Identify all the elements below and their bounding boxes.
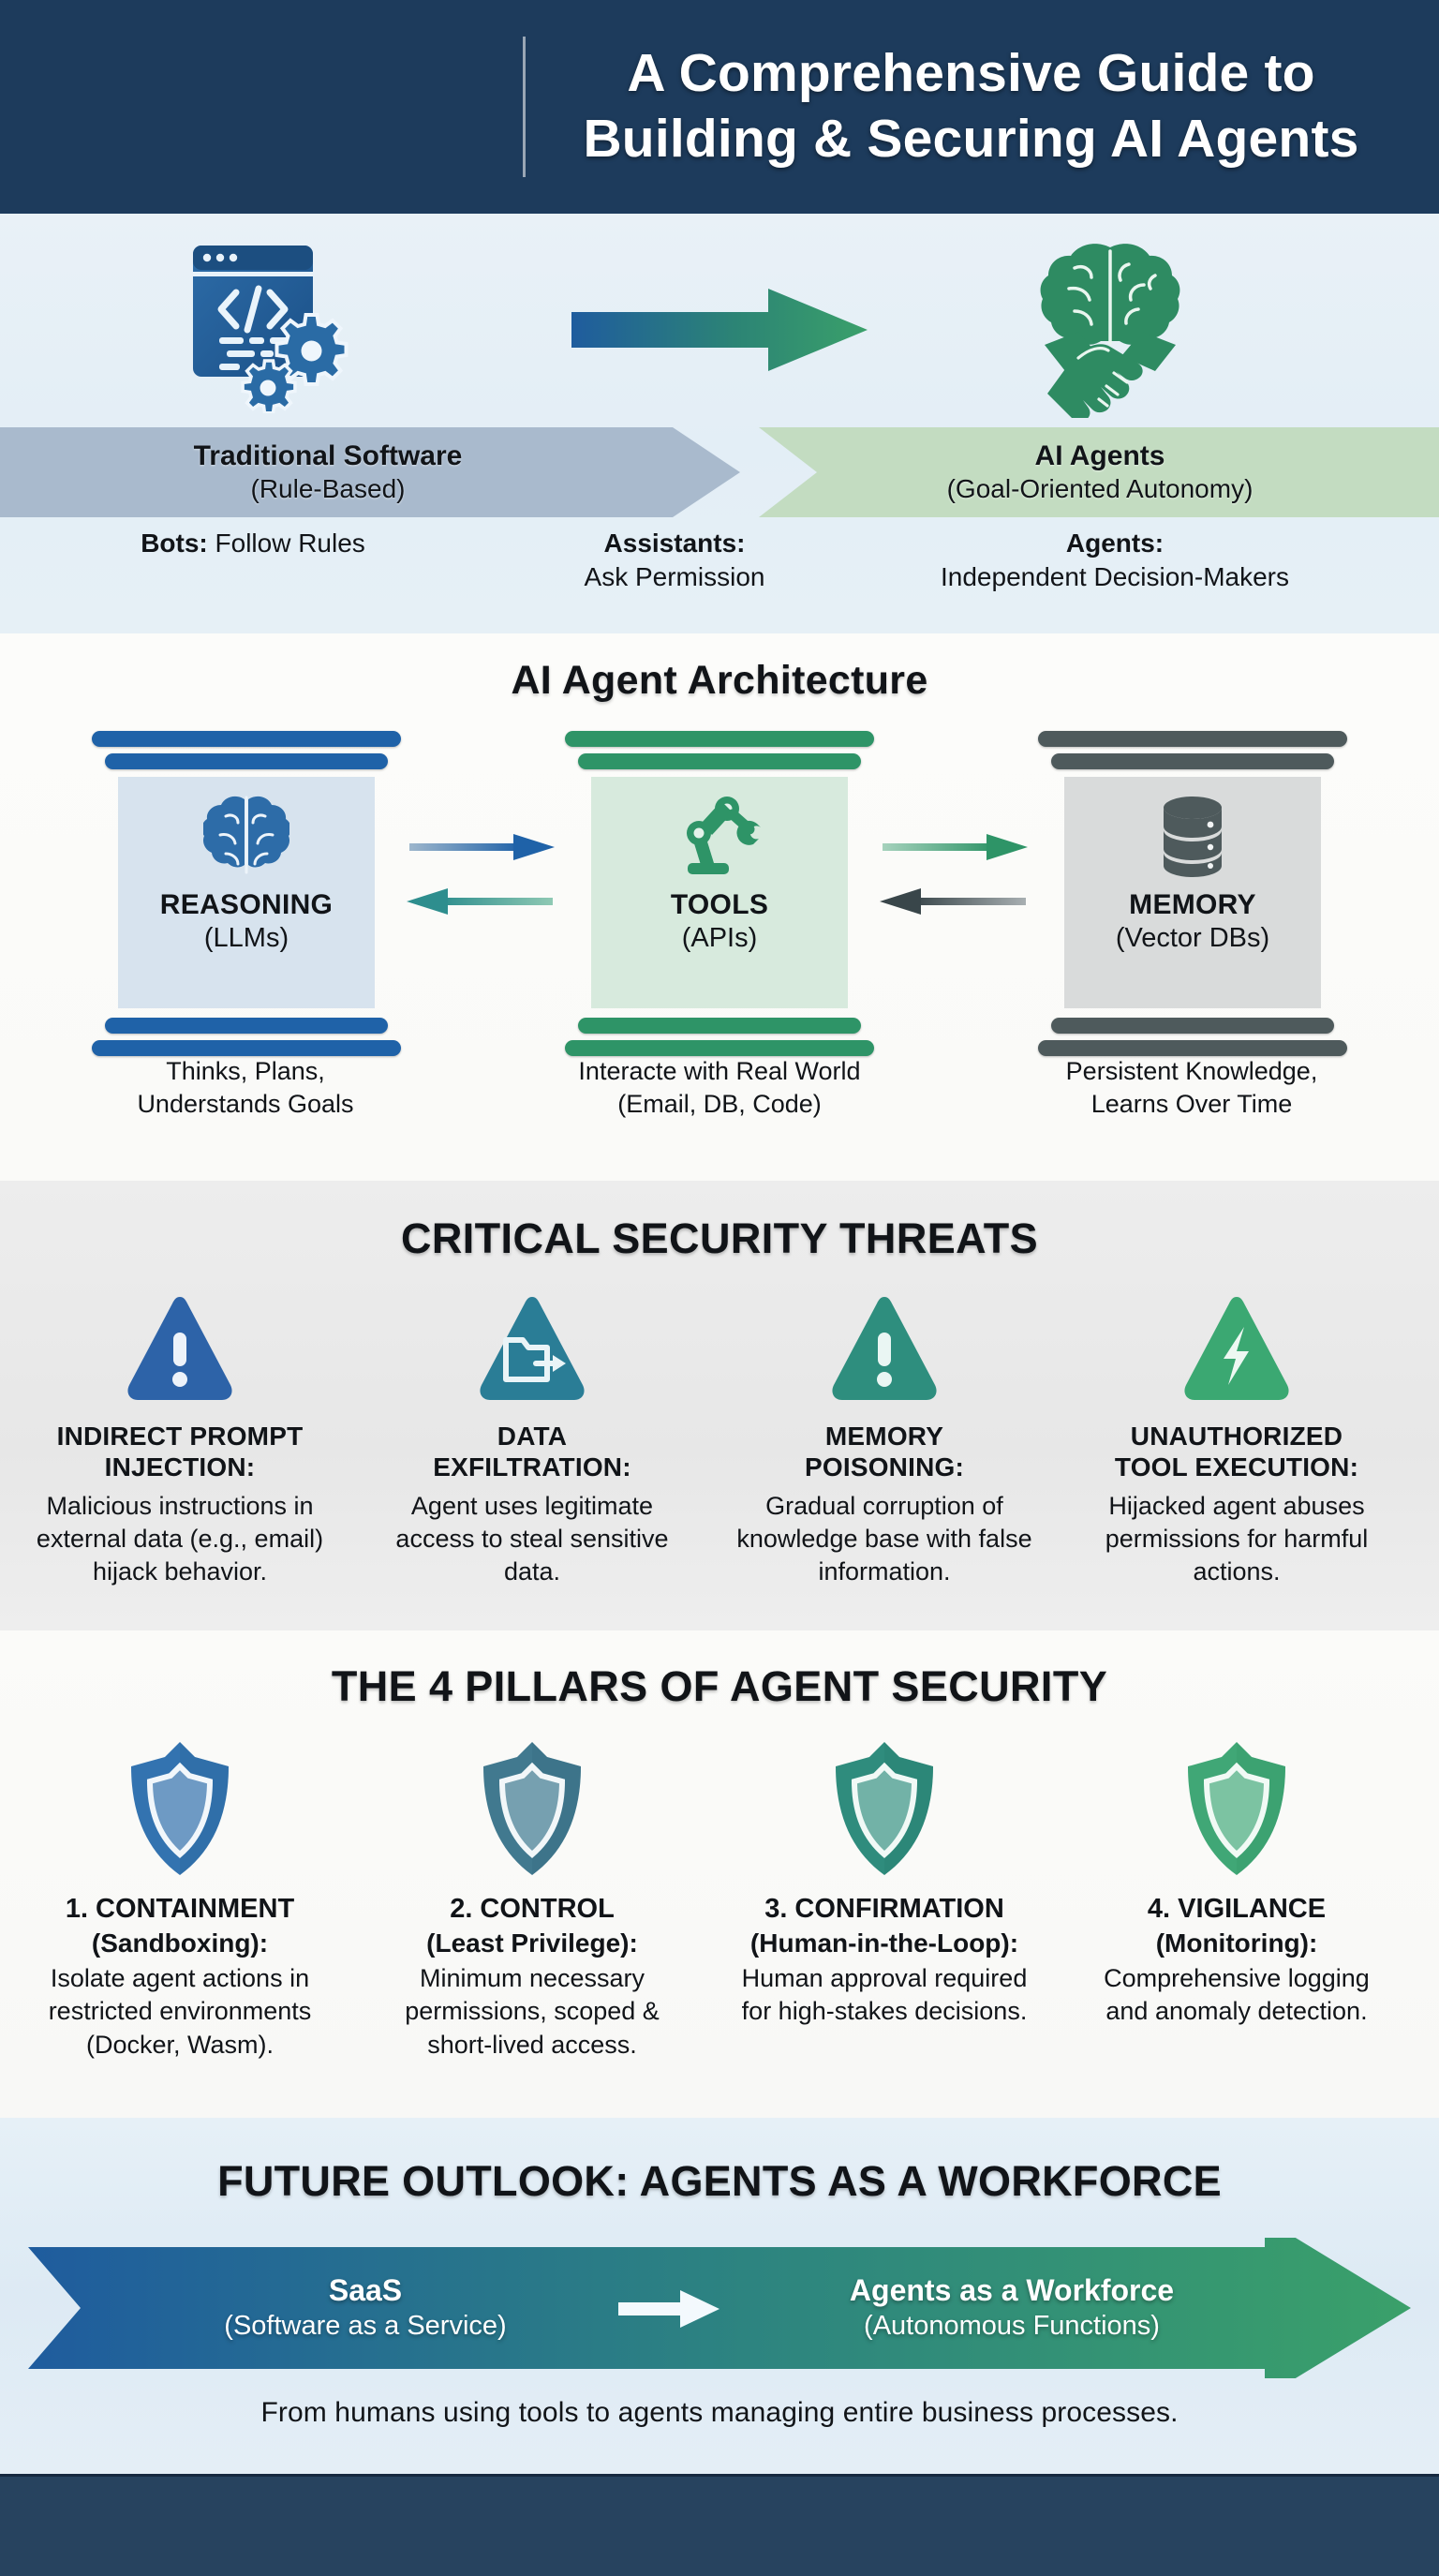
warning-triangle-folder-export-icon (363, 1288, 701, 1404)
threats-title: CRITICAL SECURITY THREATS (0, 1214, 1439, 1263)
database-icon (1150, 792, 1235, 882)
future-left-subtitle: (Software as a Service) (224, 2310, 506, 2344)
future-left-title: SaaS (224, 2272, 506, 2310)
future-left-block: SaaS (Software as a Service) (141, 2238, 590, 2378)
security-desc-confirmation: Human approval required for high-stakes … (716, 1962, 1053, 2028)
evolution-arrow-icon (570, 287, 869, 378)
footnote-assistants-text: Ask Permission (525, 560, 824, 594)
pillar-caption-tools: Interacte with Real World (Email, DB, Co… (513, 1055, 926, 1121)
code-window-gears-icon (178, 240, 356, 418)
threat-card-data-exfiltration: DATA EXFILTRATION: Agent uses legitimate… (363, 1288, 701, 1588)
threat-desc-unauthorized-tool-execution: Hijacked agent abuses permissions for ha… (1068, 1490, 1405, 1588)
architecture-section: AI Agent Architecture REASONING (LLMs) (0, 633, 1439, 1181)
small-right-arrow-icon (618, 2288, 721, 2330)
evolution-footnotes: Bots: Follow Rules Assistants: Ask Permi… (0, 527, 1439, 630)
threat-card-prompt-injection: INDIRECT PROMPT INJECTION: Malicious ins… (11, 1288, 349, 1588)
warning-triangle-exclamation-icon (716, 1288, 1053, 1404)
head-line-2: POISONING: (716, 1452, 1053, 1482)
pillar-sub-memory: (Vector DBs) (1116, 923, 1269, 954)
threat-card-unauthorized-tool-execution: UNAUTHORIZED TOOL EXECUTION: Hijacked ag… (1068, 1288, 1405, 1588)
pillar-cap-bottom-inner (105, 1018, 388, 1034)
pillar-body-tools: TOOLS (APIs) (591, 777, 848, 1008)
head-line-1: MEMORY (716, 1421, 1053, 1452)
threat-desc-memory-poisoning: Gradual corruption of knowledge base wit… (716, 1490, 1053, 1588)
pillar-cap-top-inner (1051, 753, 1334, 769)
security-head-confirmation: 3. CONFIRMATION (716, 1893, 1053, 1926)
pillar-tools: TOOLS (APIs) (565, 731, 874, 1056)
pillar-cap-bottom-inner (578, 1018, 861, 1034)
architecture-title: AI Agent Architecture (0, 658, 1439, 704)
footnote-agents-label: Agents: (843, 527, 1387, 560)
brain-handshake-icon (1016, 231, 1204, 423)
pillar-cap-top-outer (1038, 731, 1347, 747)
footnote-assistants: Assistants: Ask Permission (525, 527, 824, 594)
threat-head-data-exfiltration: DATA EXFILTRATION: (363, 1421, 701, 1482)
future-outlook-note: From humans using tools to agents managi… (0, 2397, 1439, 2429)
security-sub-vigilance: (Monitoring): (1068, 1928, 1405, 1959)
threat-desc-data-exfiltration: Agent uses legitimate access to steal se… (363, 1490, 701, 1588)
pillar-cap-top-outer (565, 731, 874, 747)
security-head-control: 2. CONTROL (363, 1893, 701, 1926)
pillar-cap-bottom-outer (1038, 1040, 1347, 1056)
caption-line-1: Thinks, Plans, (39, 1055, 452, 1088)
threat-head-unauthorized-tool-execution: UNAUTHORIZED TOOL EXECUTION: (1068, 1421, 1405, 1482)
header-banner: A Comprehensive Guide to Building & Secu… (0, 0, 1439, 214)
footnote-bots-label: Bots: (141, 529, 208, 558)
pillar-body-memory: MEMORY (Vector DBs) (1064, 777, 1321, 1008)
head-line-1: INDIRECT PROMPT (11, 1421, 349, 1452)
threat-desc-prompt-injection: Malicious instructions in external data … (11, 1490, 349, 1588)
shield-icon (11, 1734, 349, 1884)
arrow-tools-to-memory (883, 834, 1028, 860)
pillar-memory: MEMORY (Vector DBs) (1038, 731, 1347, 1056)
head-line-2: INJECTION: (11, 1452, 349, 1482)
pillar-name-reasoning: REASONING (160, 889, 333, 921)
footnote-assistants-label: Assistants: (525, 527, 824, 560)
security-head-vigilance: 4. VIGILANCE (1068, 1893, 1405, 1926)
shield-icon (363, 1734, 701, 1884)
pillar-body-reasoning: REASONING (LLMs) (118, 777, 375, 1008)
pillar-cap-bottom-inner (1051, 1018, 1334, 1034)
caption-line-1: Interacte with Real World (513, 1055, 926, 1088)
security-card-confirmation: 3. CONFIRMATION (Human-in-the-Loop): Hum… (716, 1734, 1053, 2029)
ai-agents-label: AI Agents (Goal-Oriented Autonomy) (761, 427, 1439, 517)
brain-icon (203, 792, 289, 882)
security-card-containment: 1. CONTAINMENT (Sandboxing): Isolate age… (11, 1734, 349, 2062)
pillar-cap-bottom-outer (92, 1040, 401, 1056)
pillar-cap-top-outer (92, 731, 401, 747)
future-outlook-section: FUTURE OUTLOOK: AGENTS AS A WORKFORCE Sa… (0, 2118, 1439, 2474)
footnote-bots: Bots: Follow Rules (56, 527, 450, 560)
footnote-agents: Agents: Independent Decision-Makers (843, 527, 1387, 594)
evolution-bands: Traditional Software (Rule-Based) AI Age… (0, 427, 1439, 517)
warning-triangle-bolt-icon (1068, 1288, 1405, 1404)
pillar-cap-bottom-outer (565, 1040, 874, 1056)
caption-line-2: Learns Over Time (986, 1088, 1398, 1121)
security-pillars-title: THE 4 PILLARS OF AGENT SECURITY (0, 1662, 1439, 1711)
pillar-cap-top-inner (578, 753, 861, 769)
infographic-page: A Comprehensive Guide to Building & Secu… (0, 0, 1439, 2573)
pillar-sub-reasoning: (LLMs) (204, 923, 289, 954)
security-desc-control: Minimum necessary permissions, scoped & … (363, 1962, 701, 2061)
security-desc-containment: Isolate agent actions in restricted envi… (11, 1962, 349, 2061)
shield-icon (716, 1734, 1053, 1884)
security-head-containment: 1. CONTAINMENT (11, 1893, 349, 1926)
warning-triangle-exclamation-icon (11, 1288, 349, 1404)
pillar-reasoning: REASONING (LLMs) (92, 731, 401, 1056)
future-outlook-title: FUTURE OUTLOOK: AGENTS AS A WORKFORCE (0, 2157, 1439, 2206)
arrow-tools-to-reasoning (407, 888, 553, 915)
future-right-title: Agents as a Workforce (850, 2272, 1174, 2310)
page-title: A Comprehensive Guide to Building & Secu… (526, 41, 1439, 171)
future-right-block: Agents as a Workforce (Autonomous Functi… (749, 2238, 1274, 2378)
caption-line-2: (Email, DB, Code) (513, 1088, 926, 1121)
security-card-control: 2. CONTROL (Least Privilege): Minimum ne… (363, 1734, 701, 2062)
security-desc-vigilance: Comprehensive logging and anomaly detect… (1068, 1962, 1405, 2028)
band-left-title: Traditional Software (194, 439, 463, 473)
threat-head-memory-poisoning: MEMORY POISONING: (716, 1421, 1053, 1482)
band-left-subtitle: (Rule-Based) (251, 473, 406, 505)
head-line-1: DATA (363, 1421, 701, 1452)
head-line-2: EXFILTRATION: (363, 1452, 701, 1482)
pillar-name-memory: MEMORY (1129, 889, 1256, 921)
security-sub-control: (Least Privilege): (363, 1928, 701, 1959)
caption-line-2: Understands Goals (39, 1088, 452, 1121)
traditional-software-label: Traditional Software (Rule-Based) (0, 427, 656, 517)
head-line-2: TOOL EXECUTION: (1068, 1452, 1405, 1482)
footer-bar (0, 2474, 1439, 2576)
evolution-icon-row (0, 214, 1439, 427)
security-sub-confirmation: (Human-in-the-Loop): (716, 1928, 1053, 1959)
threat-head-prompt-injection: INDIRECT PROMPT INJECTION: (11, 1421, 349, 1482)
band-right-title: AI Agents (1035, 439, 1165, 473)
future-right-subtitle: (Autonomous Functions) (850, 2310, 1174, 2344)
evolution-section: Traditional Software (Rule-Based) AI Age… (0, 214, 1439, 633)
caption-line-1: Persistent Knowledge, (986, 1055, 1398, 1088)
footnote-bots-text: Follow Rules (208, 529, 365, 558)
pillar-name-tools: TOOLS (671, 889, 768, 921)
security-card-vigilance: 4. VIGILANCE (Monitoring): Comprehensive… (1068, 1734, 1405, 2029)
title-line-1: A Comprehensive Guide to (627, 43, 1314, 103)
pillar-cap-top-inner (105, 753, 388, 769)
title-line-2: Building & Securing AI Agents (526, 107, 1417, 172)
pillar-caption-memory: Persistent Knowledge, Learns Over Time (986, 1055, 1398, 1121)
footnote-agents-text: Independent Decision-Makers (843, 560, 1387, 594)
robot-arm-icon (675, 792, 764, 882)
pillar-caption-reasoning: Thinks, Plans, Understands Goals (39, 1055, 452, 1121)
pillar-sub-tools: (APIs) (682, 923, 758, 954)
arrow-reasoning-to-tools (409, 834, 555, 860)
threats-section: CRITICAL SECURITY THREATS INDIRECT PROMP… (0, 1181, 1439, 1630)
head-line-1: UNAUTHORIZED (1068, 1421, 1405, 1452)
arrow-memory-to-tools (880, 888, 1026, 915)
threat-card-memory-poisoning: MEMORY POISONING: Gradual corruption of … (716, 1288, 1053, 1588)
security-sub-containment: (Sandboxing): (11, 1928, 349, 1959)
shield-icon (1068, 1734, 1405, 1884)
security-pillars-section: THE 4 PILLARS OF AGENT SECURITY 1. CONTA… (0, 1630, 1439, 2118)
band-right-subtitle: (Goal-Oriented Autonomy) (947, 473, 1254, 505)
